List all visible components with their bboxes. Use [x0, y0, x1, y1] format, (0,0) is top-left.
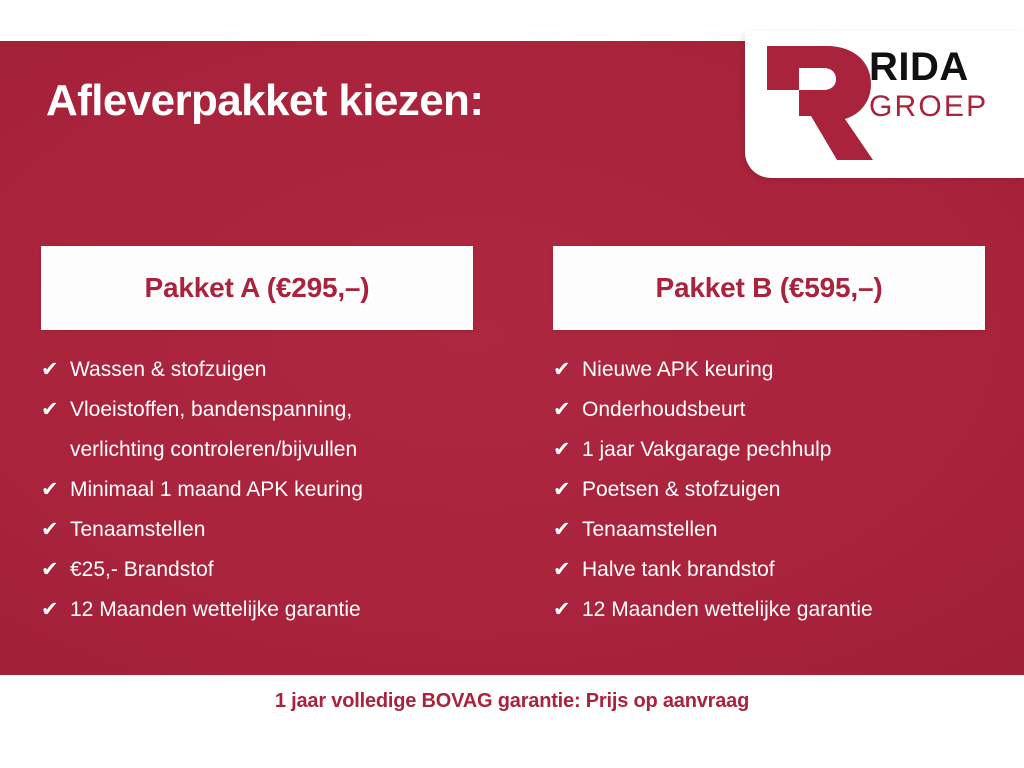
list-item: ✔ 12 Maanden wettelijke garantie [41, 590, 473, 630]
feature-label: Nieuwe APK keuring [582, 350, 985, 390]
feature-label: Vloeistoffen, bandenspanning, verlichtin… [70, 390, 473, 470]
check-icon: ✔ [553, 350, 582, 390]
package-features-pakket-a: ✔ Wassen & stofzuigen ✔ Vloeistoffen, ba… [41, 330, 473, 630]
list-item: ✔ Minimaal 1 maand APK keuring [41, 470, 473, 510]
check-icon: ✔ [41, 510, 70, 550]
check-icon: ✔ [553, 510, 582, 550]
package-features-pakket-b: ✔ Nieuwe APK keuring ✔ Onderhoudsbeurt ✔… [553, 330, 985, 630]
check-icon: ✔ [41, 390, 70, 430]
feature-label: 12 Maanden wettelijke garantie [70, 590, 473, 630]
packages-container: Pakket A (€295,–) ✔ Wassen & stofzuigen … [0, 0, 1024, 768]
feature-label: Wassen & stofzuigen [70, 350, 473, 390]
list-item: ✔ Wassen & stofzuigen [41, 350, 473, 390]
check-icon: ✔ [41, 590, 70, 630]
check-icon: ✔ [553, 550, 582, 590]
package-card-pakket-a[interactable]: Pakket A (€295,–) ✔ Wassen & stofzuigen … [41, 246, 473, 630]
check-icon: ✔ [553, 390, 582, 430]
package-header-pakket-a[interactable]: Pakket A (€295,–) [41, 246, 473, 330]
check-icon: ✔ [553, 470, 582, 510]
check-icon: ✔ [41, 350, 70, 390]
check-icon: ✔ [41, 550, 70, 590]
list-item: ✔ Vloeistoffen, bandenspanning, verlicht… [41, 390, 473, 470]
feature-label: 12 Maanden wettelijke garantie [582, 590, 985, 630]
feature-label: Halve tank brandstof [582, 550, 985, 590]
list-item: ✔ Poetsen & stofzuigen [553, 470, 985, 510]
feature-label: Minimaal 1 maand APK keuring [70, 470, 473, 510]
check-icon: ✔ [553, 590, 582, 630]
list-item: ✔ €25,- Brandstof [41, 550, 473, 590]
package-title-pakket-a: Pakket A (€295,–) [145, 272, 370, 304]
check-icon: ✔ [41, 470, 70, 510]
list-item: ✔ 1 jaar Vakgarage pechhulp [553, 430, 985, 470]
list-item: ✔ Halve tank brandstof [553, 550, 985, 590]
list-item: ✔ Onderhoudsbeurt [553, 390, 985, 430]
feature-label: Tenaamstellen [582, 510, 985, 550]
feature-label: €25,- Brandstof [70, 550, 473, 590]
feature-label: Onderhoudsbeurt [582, 390, 985, 430]
feature-label: Tenaamstellen [70, 510, 473, 550]
list-item: ✔ 12 Maanden wettelijke garantie [553, 590, 985, 630]
slide-root: Afleverpakket kiezen: RIDA GROEP Pakket … [0, 0, 1024, 768]
package-card-pakket-b[interactable]: Pakket B (€595,–) ✔ Nieuwe APK keuring ✔… [553, 246, 985, 630]
footer-bar: 1 jaar volledige BOVAG garantie: Prijs o… [0, 675, 1024, 768]
list-item: ✔ Tenaamstellen [553, 510, 985, 550]
list-item: ✔ Tenaamstellen [41, 510, 473, 550]
check-icon: ✔ [553, 430, 582, 470]
feature-label: Poetsen & stofzuigen [582, 470, 985, 510]
package-title-pakket-b: Pakket B (€595,–) [656, 272, 883, 304]
footer-note: 1 jaar volledige BOVAG garantie: Prijs o… [0, 690, 1024, 713]
feature-label: 1 jaar Vakgarage pechhulp [582, 430, 985, 470]
package-header-pakket-b[interactable]: Pakket B (€595,–) [553, 246, 985, 330]
list-item: ✔ Nieuwe APK keuring [553, 350, 985, 390]
